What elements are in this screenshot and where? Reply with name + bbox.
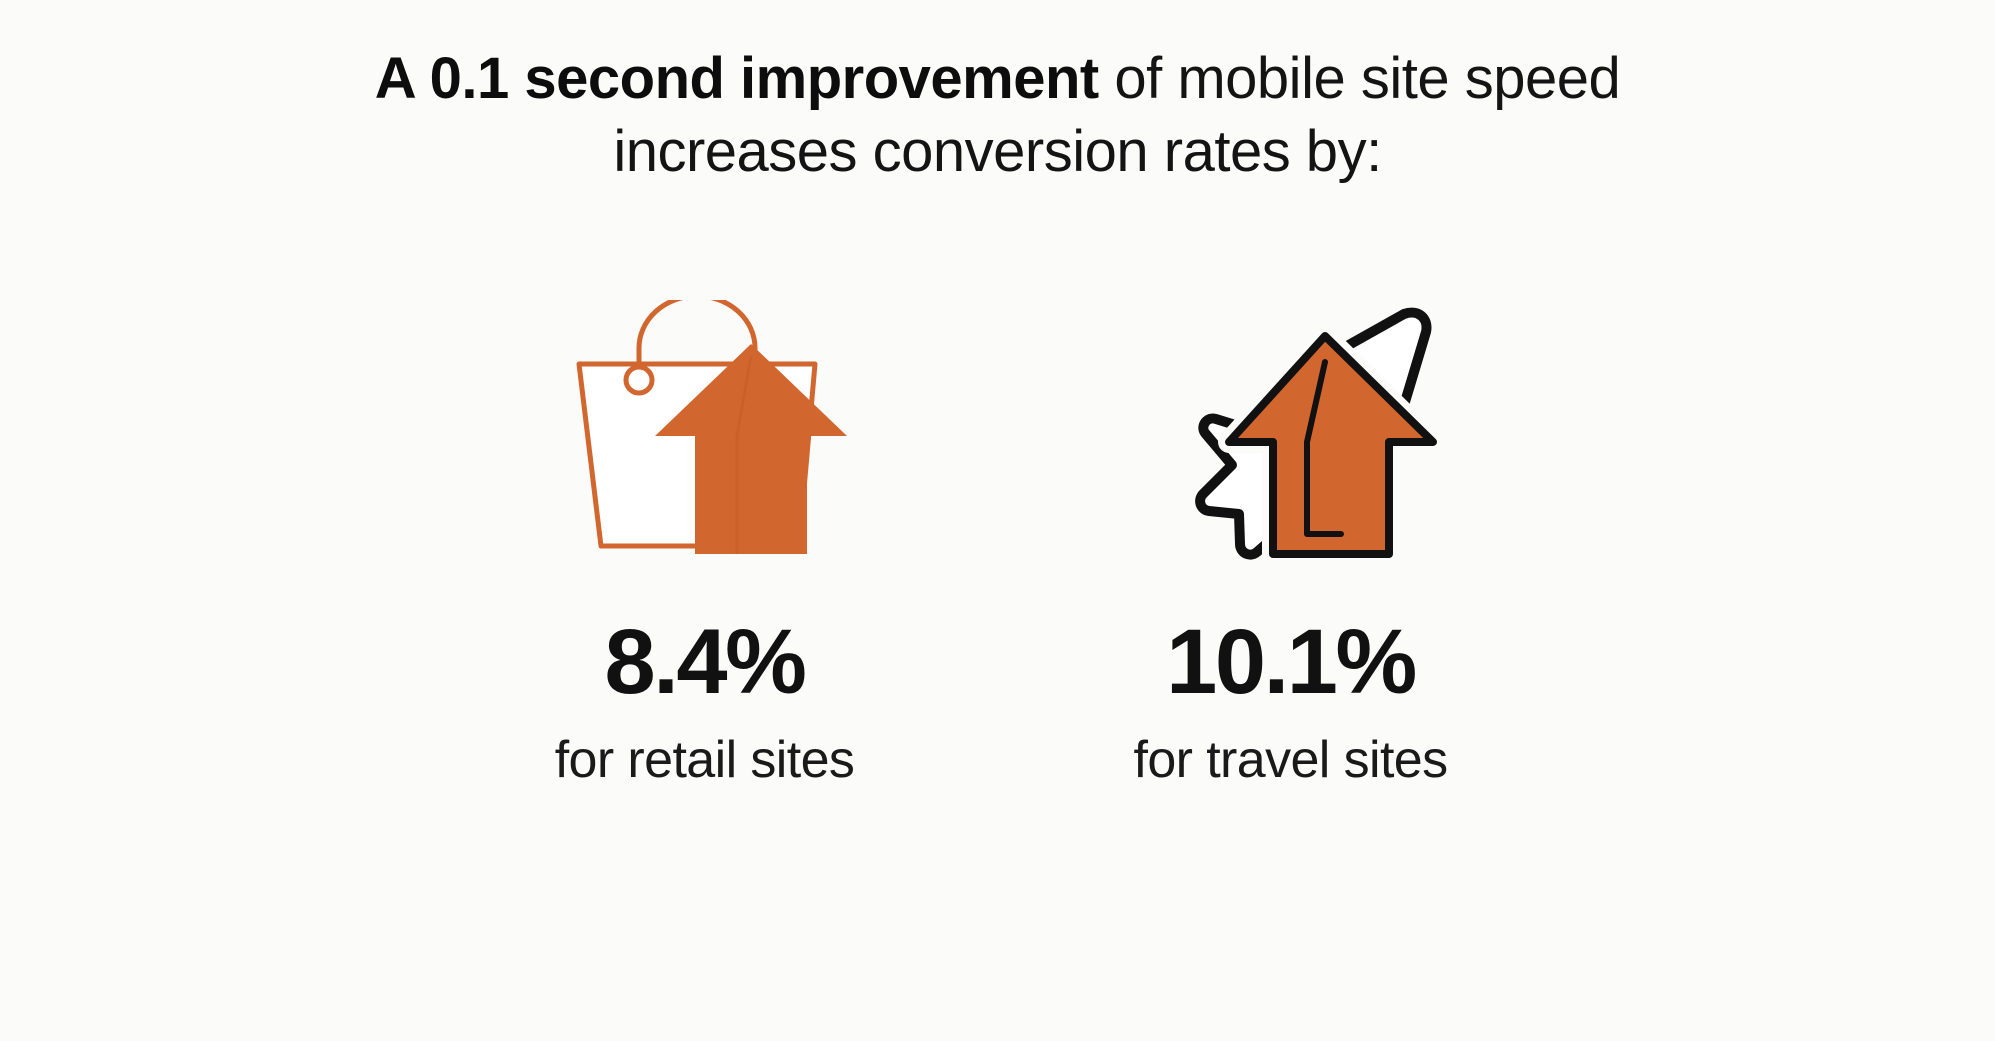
airplane-up-arrow-icon bbox=[1127, 300, 1447, 560]
shopping-bag-up-arrow-icon bbox=[561, 300, 861, 560]
headline-emphasis: A 0.1 second improvement bbox=[375, 46, 1099, 111]
stat-block-travel: 10.1% for travel sites bbox=[1071, 300, 1511, 786]
travel-icon-wrap bbox=[1127, 300, 1447, 560]
stat-caption-travel: for travel sites bbox=[1133, 734, 1447, 786]
bag-handle-ring-left bbox=[626, 367, 652, 393]
stat-caption-retail: for retail sites bbox=[555, 734, 855, 786]
stat-value-retail: 8.4% bbox=[604, 616, 804, 708]
headline-line-1: A 0.1 second improvement of mobile site … bbox=[0, 44, 1995, 115]
infographic-slide: A 0.1 second improvement of mobile site … bbox=[0, 0, 1995, 1041]
stat-block-retail: 8.4% for retail sites bbox=[485, 300, 925, 786]
stat-value-travel: 10.1% bbox=[1166, 616, 1415, 708]
stats-row: 8.4% for retail sites 10.1% bbox=[0, 300, 1995, 786]
headline-line-2: increases conversion rates by: bbox=[0, 117, 1995, 188]
retail-icon-wrap bbox=[561, 300, 861, 560]
headline-line-1-rest: of mobile site speed bbox=[1099, 46, 1620, 111]
headline: A 0.1 second improvement of mobile site … bbox=[0, 44, 1995, 188]
bag-handle bbox=[639, 300, 755, 364]
